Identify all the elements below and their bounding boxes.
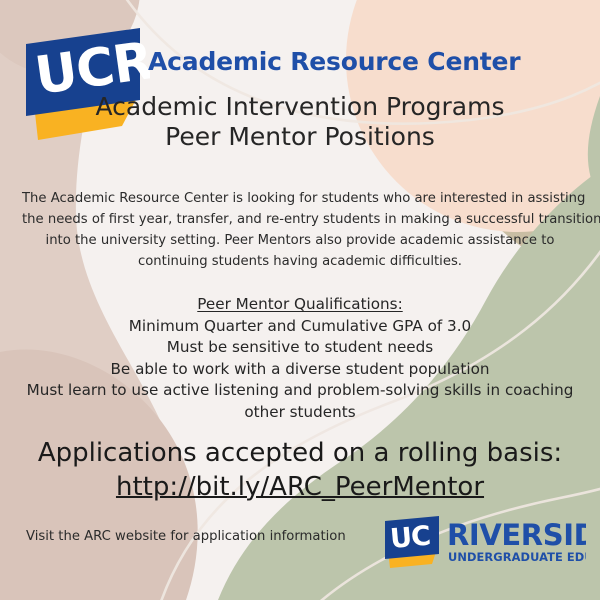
uc-riverside-logo: UC RIVERSIDE UNDERGRADUATE EDUCATION (382, 514, 586, 572)
department-name: Academic Resource Center (148, 47, 520, 76)
uc-riverside-tagline: UNDERGRADUATE EDUCATION (448, 550, 586, 564)
intro-line-2: the needs of first year, transfer, and r… (22, 209, 578, 230)
intro-line-1: The Academic Resource Center is looking … (22, 188, 578, 209)
qualification-item: Must be sensitive to student needs (10, 337, 590, 359)
page-title-line-1: Academic Intervention Programs (0, 92, 600, 122)
qualification-item: Minimum Quarter and Cumulative GPA of 3.… (10, 316, 590, 338)
page-title-line-2: Peer Mentor Positions (0, 122, 600, 152)
page-title: Academic Intervention Programs Peer Ment… (0, 92, 600, 152)
intro-line-4: continuing students having academic diff… (22, 251, 578, 272)
qualifications-heading: Peer Mentor Qualifications: (10, 294, 590, 316)
qualifications-section: Peer Mentor Qualifications: Minimum Quar… (10, 294, 590, 423)
qualification-item: Be able to work with a diverse student p… (10, 359, 590, 381)
uc-riverside-wordmark: RIVERSIDE (447, 518, 586, 552)
application-link[interactable]: http://bit.ly/ARC_PeerMentor (0, 470, 600, 504)
qualification-item: other students (10, 402, 590, 424)
uc-riverside-badge-text: UC (389, 521, 431, 555)
footer-note: Visit the ARC website for application in… (26, 529, 346, 544)
flyer-canvas: UCR Academic Resource Center Academic In… (0, 0, 600, 600)
intro-line-3: into the university setting. Peer Mentor… (22, 230, 578, 251)
uc-riverside-logo-graphic: UC RIVERSIDE UNDERGRADUATE EDUCATION (382, 514, 586, 572)
cta-headline: Applications accepted on a rolling basis… (0, 436, 600, 470)
call-to-action: Applications accepted on a rolling basis… (0, 436, 600, 504)
qualification-item: Must learn to use active listening and p… (10, 380, 590, 402)
intro-paragraph: The Academic Resource Center is looking … (22, 188, 578, 272)
